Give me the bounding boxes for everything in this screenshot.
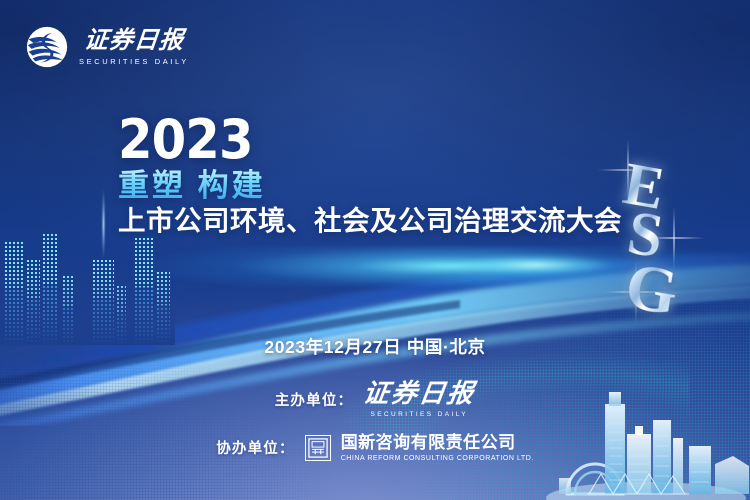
- coorganizer-text: 国新咨询有限责任公司 CHINA REFORM CONSULTING CORPO…: [341, 434, 534, 462]
- organizer-logo: 证券日报 SECURITIES DAILY: [363, 381, 475, 418]
- conference-subtitle: 上市公司环境、社会及公司治理交流大会: [118, 206, 678, 237]
- china-reform-seal-icon: [305, 435, 331, 461]
- coorganizer-row: 协办单位： 国新咨询有限责任公司 CHINA REFORM CONSULTING…: [0, 434, 750, 462]
- header-logo-en: SECURITIES DAILY: [79, 57, 189, 66]
- dateline: 2023年12月27日 中国·北京: [0, 334, 750, 359]
- organizer-label: 主办单位：: [275, 389, 354, 410]
- header-logo-cn: 证券日报: [83, 29, 186, 53]
- title-accent-bar: [101, 176, 106, 272]
- slogan-title: 重塑 构建: [118, 169, 678, 202]
- securities-daily-header-logo: 证券日报 SECURITIES DAILY: [24, 24, 189, 70]
- coorganizer-label: 协办单位：: [216, 437, 295, 458]
- esg-conference-poster: 证券日报 SECURITIES DAILY 2023 重塑 构建 上市公司环境、…: [0, 0, 750, 500]
- seal-glyph: [308, 438, 328, 458]
- esg-letter-g: G: [620, 248, 683, 331]
- coorganizer-name-cn: 国新咨询有限责任公司: [341, 434, 516, 452]
- coorganizer-name-en: CHINA REFORM CONSULTING CORPORATION LTD.: [341, 455, 534, 462]
- esg-letters: E S G: [596, 156, 706, 336]
- organizer-logo-en: SECURITIES DAILY: [370, 411, 468, 418]
- year-title: 2023: [118, 114, 633, 166]
- organizer-row: 主办单位： 证券日报 SECURITIES DAILY: [0, 381, 750, 418]
- event-info-block: 2023年12月27日 中国·北京 主办单位： 证券日报 SECURITIES …: [0, 334, 750, 462]
- organizer-logo-cn: 证券日报: [361, 381, 477, 407]
- headline-block: 2023 重塑 构建 上市公司环境、社会及公司治理交流大会: [118, 114, 678, 237]
- swirl-globe-icon: [24, 24, 70, 70]
